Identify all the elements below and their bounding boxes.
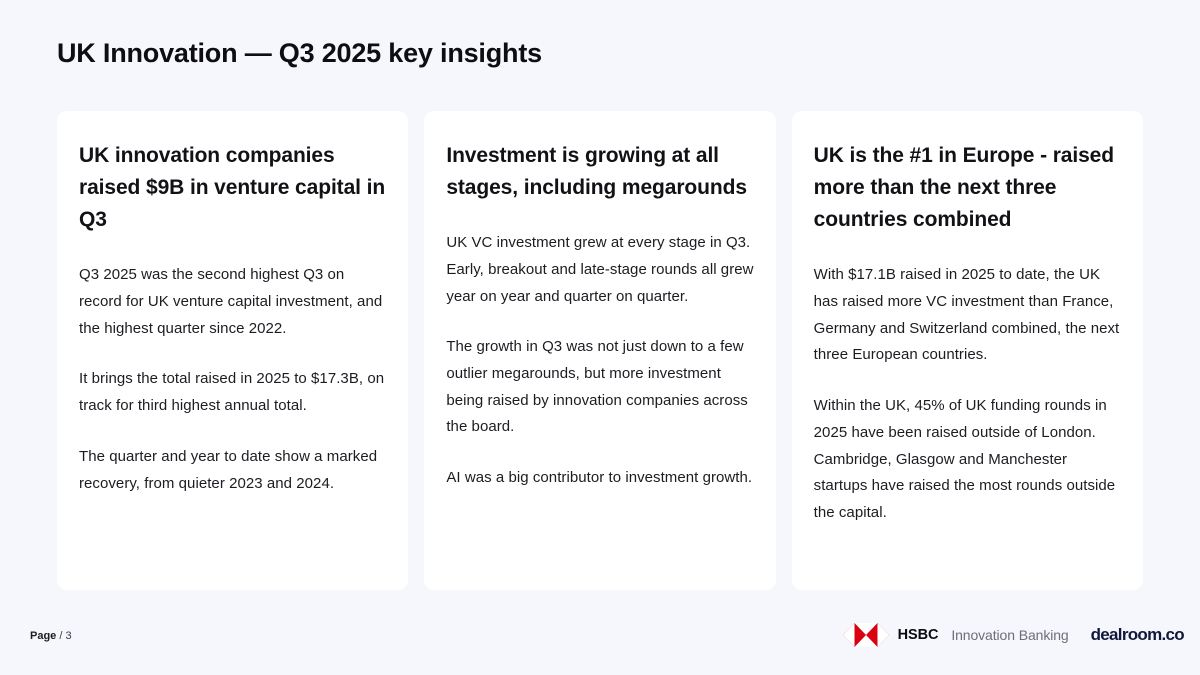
insight-paragraph: The quarter and year to date show a mark… <box>79 444 386 497</box>
page-label: Page <box>30 630 56 642</box>
slide-footer: Page / 3 HSBC Innovation Banking dealroo… <box>0 619 1200 675</box>
dealroom-logo: dealroom.co <box>1091 625 1184 645</box>
insight-card-body: Q3 2025 was the second highest Q3 on rec… <box>79 262 386 497</box>
page-marker: Page / 3 <box>30 630 72 642</box>
insight-paragraph: UK VC investment grew at every stage in … <box>446 230 753 310</box>
insight-paragraph: With $17.1B raised in 2025 to date, the … <box>814 262 1121 369</box>
insight-card-body: UK VC investment grew at every stage in … <box>446 230 753 492</box>
insight-cards-row: UK innovation companies raised $9B in ve… <box>57 111 1143 590</box>
insight-card-heading: UK is the #1 in Europe - raised more tha… <box>814 140 1121 236</box>
insight-card-body: With $17.1B raised in 2025 to date, the … <box>814 262 1121 526</box>
page-count: / 3 <box>59 630 71 642</box>
insight-paragraph: Q3 2025 was the second highest Q3 on rec… <box>79 262 386 342</box>
insight-card: UK is the #1 in Europe - raised more tha… <box>792 111 1143 590</box>
insight-card: UK innovation companies raised $9B in ve… <box>57 111 408 590</box>
hsbc-wordmark: HSBC <box>898 627 939 643</box>
footer-logos: HSBC Innovation Banking dealroom.co <box>843 623 1184 647</box>
insight-paragraph: The growth in Q3 was not just down to a … <box>446 334 753 441</box>
insight-card-heading: UK innovation companies raised $9B in ve… <box>79 140 386 236</box>
insight-card-heading: Investment is growing at all stages, inc… <box>446 140 753 204</box>
insight-paragraph: It brings the total raised in 2025 to $1… <box>79 366 386 419</box>
page-title: UK Innovation — Q3 2025 key insights <box>57 38 542 69</box>
hsbc-innovation-banking-logo: HSBC Innovation Banking <box>843 623 1069 647</box>
insight-paragraph: AI was a big contributor to investment g… <box>446 465 753 492</box>
slide: UK Innovation — Q3 2025 key insights UK … <box>0 0 1200 675</box>
insight-paragraph: Within the UK, 45% of UK funding rounds … <box>814 393 1121 526</box>
insight-card: Investment is growing at all stages, inc… <box>424 111 775 590</box>
hsbc-subtitle: Innovation Banking <box>951 627 1068 643</box>
hsbc-hexagon-icon <box>843 623 889 647</box>
